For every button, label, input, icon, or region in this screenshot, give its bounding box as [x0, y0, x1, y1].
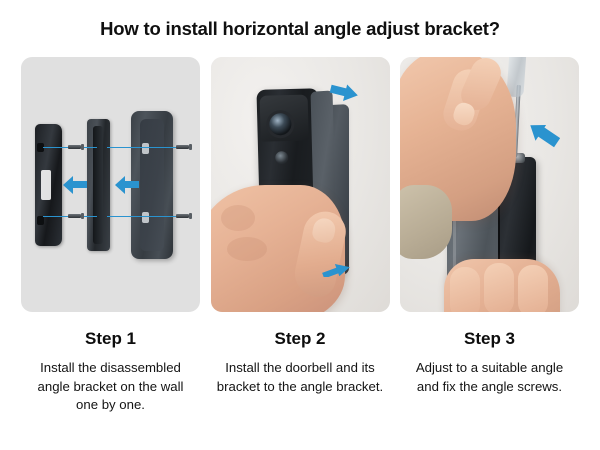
arrow-down-left-icon [526, 125, 560, 153]
arrow-shaft [72, 181, 87, 188]
step-3-image [400, 57, 579, 312]
step-column-1: Step 1 Install the disassembled angle br… [21, 57, 200, 415]
step-3-text: Adjust to a suitable angle and fix the a… [400, 359, 579, 396]
shell-inner-channel [140, 119, 164, 251]
channel-rail-part [87, 119, 110, 251]
mounting-screw [176, 214, 189, 218]
step-1-image [21, 57, 200, 312]
step-2-label: Step 2 [211, 329, 390, 349]
step-1-caption: Step 1 Install the disassembled angle br… [21, 329, 200, 415]
knuckle-shade [221, 205, 255, 231]
finger [518, 265, 548, 312]
hand [211, 185, 345, 312]
steps-row: Step 1 Install the disassembled angle br… [21, 57, 579, 415]
motion-sensor-icon [275, 151, 288, 164]
bracket-tab-bottom [37, 216, 44, 225]
step-3-caption: Step 3 Adjust to a suitable angle and fi… [400, 329, 579, 396]
shell-slot-top [142, 143, 149, 154]
bracket-plate-part [35, 124, 62, 246]
shell-slot-bottom [142, 212, 149, 223]
step-column-3: Step 3 Adjust to a suitable angle and fi… [400, 57, 579, 415]
camera-lens-icon [269, 113, 292, 136]
mounting-screw [176, 145, 189, 149]
arrow-up-right-icon [321, 255, 351, 277]
mounting-screw [68, 145, 81, 149]
knuckle-shade [227, 237, 267, 261]
arrow-shaft [124, 181, 139, 188]
page-title: How to install horizontal angle adjust b… [0, 18, 600, 40]
step-2-caption: Step 2 Install the doorbell and its brac… [211, 329, 390, 396]
hand-lower [444, 259, 560, 312]
step-1-label: Step 1 [21, 329, 200, 349]
mounting-screw [68, 214, 81, 218]
step-1-text: Install the disassembled angle bracket o… [21, 359, 200, 415]
sleeve [400, 185, 452, 259]
step-column-2: Step 2 Install the doorbell and its brac… [211, 57, 390, 415]
finger [450, 267, 480, 312]
arrow-down-right-icon [329, 84, 359, 106]
finger [484, 263, 514, 312]
thumb [290, 208, 349, 301]
instruction-graphic: How to install horizontal angle adjust b… [0, 0, 600, 450]
step-2-image [211, 57, 390, 312]
step-2-text: Install the doorbell and its bracket to … [211, 359, 390, 396]
step-3-label: Step 3 [400, 329, 579, 349]
